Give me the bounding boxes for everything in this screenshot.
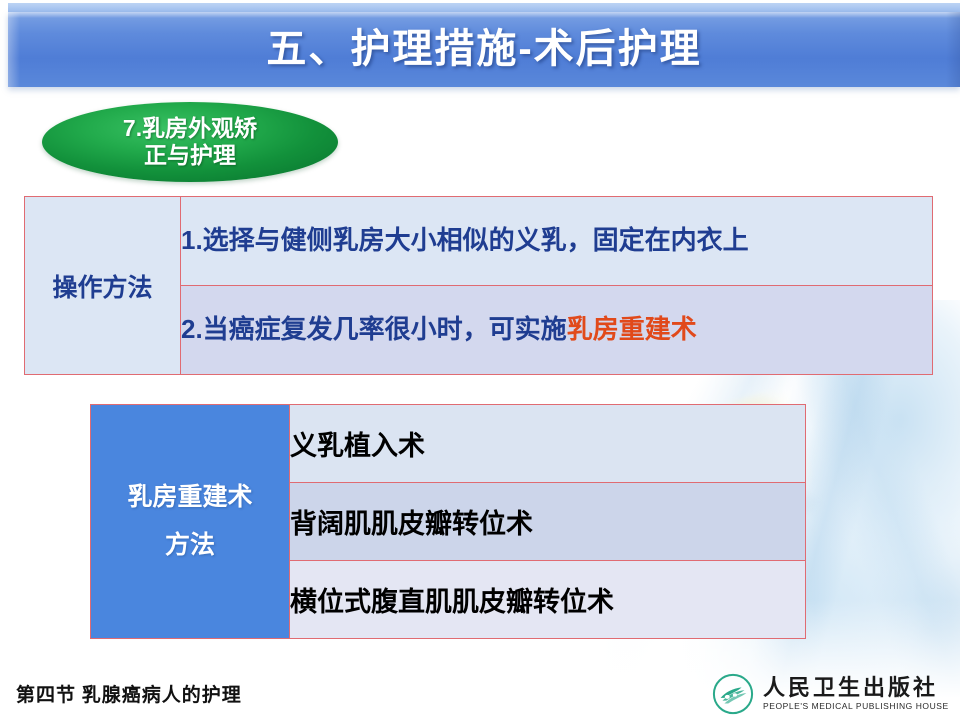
reconstruction-item-3: 横位式腹直肌肌皮瓣转位术: [290, 561, 806, 639]
publisher-logo: 人民卫生出版社 PEOPLE'S MEDICAL PUBLISHING HOUS…: [712, 672, 948, 716]
operation-item-1-text: 1.选择与健侧乳房大小相似的义乳，固定在内衣上: [181, 225, 749, 255]
operation-item-2-text: 2.当癌症复发几率很小时，可实施: [181, 314, 567, 344]
slide-title: 五、护理措施-术后护理: [8, 3, 960, 87]
reconstruction-item-2: 背阔肌肌皮瓣转位术: [290, 483, 806, 561]
title-banner: 五、护理措施-术后护理: [8, 3, 960, 87]
reconstruction-header: 乳房重建术 方法: [91, 405, 290, 639]
reconstruction-header-line-1: 乳房重建术: [91, 474, 289, 522]
table-row: 操作方法 1.选择与健侧乳房大小相似的义乳，固定在内衣上: [25, 197, 933, 286]
callout-line-2: 正与护理: [144, 142, 236, 169]
publisher-name-en: PEOPLE'S MEDICAL PUBLISHING HOUSE: [763, 701, 949, 713]
slide-canvas: 五、护理措施-术后护理 7.乳房外观矫 正与护理 操作方法 1.选择与健侧乳房大…: [0, 0, 960, 720]
table-cell-operation-2: 2.当癌症复发几率很小时，可实施乳房重建术: [181, 286, 933, 375]
operation-method-header: 操作方法: [25, 197, 181, 375]
reconstruction-header-line-2: 方法: [91, 522, 289, 570]
publisher-emblem-icon: [712, 673, 754, 715]
footer-section-label: 第四节 乳腺癌病人的护理: [16, 680, 242, 707]
publisher-name-cn: 人民卫生出版社: [763, 676, 949, 699]
section-callout-ellipse: 7.乳房外观矫 正与护理: [42, 102, 338, 182]
table-cell-operation-1: 1.选择与健侧乳房大小相似的义乳，固定在内衣上: [181, 197, 933, 286]
table-row: 乳房重建术 方法 义乳植入术: [91, 405, 806, 483]
reconstruction-method-table: 乳房重建术 方法 义乳植入术 背阔肌肌皮瓣转位术 横位式腹直肌肌皮瓣转位术: [90, 404, 806, 639]
operation-method-table: 操作方法 1.选择与健侧乳房大小相似的义乳，固定在内衣上 2.当癌症复发几率很小…: [24, 196, 933, 375]
callout-line-1: 7.乳房外观矫: [123, 115, 257, 142]
reconstruction-item-1: 义乳植入术: [290, 405, 806, 483]
operation-item-2-highlight: 乳房重建术: [567, 314, 697, 344]
